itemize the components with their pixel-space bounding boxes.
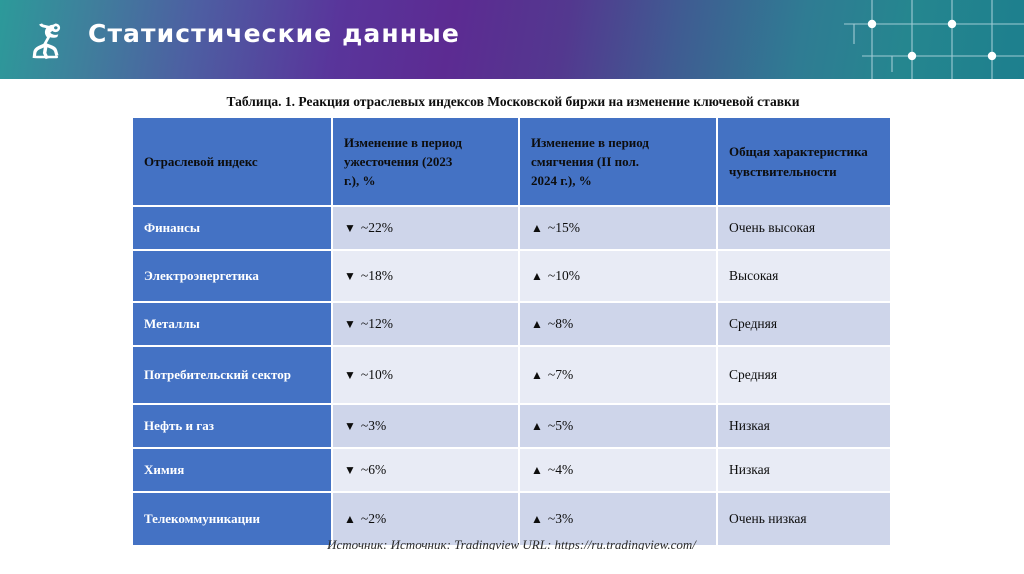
column-header-sensitivity: Общая характеристика чувствительности <box>718 118 890 207</box>
trend-up-icon: ▲ <box>531 317 543 331</box>
column-header-easing-change: Изменение в период смягчения (II пол. 20… <box>520 118 718 207</box>
header-line: г.), % <box>344 171 507 190</box>
trend-down-icon: ▼ <box>344 419 356 433</box>
column-header-sector-index: Отраслевой индекс <box>133 118 333 207</box>
trend-down-icon: ▼ <box>344 269 356 283</box>
cell-tightening-change: ▼~3% <box>333 405 520 449</box>
table-row: Финансы ▼~22% ▲~15% Очень высокая <box>133 207 890 251</box>
value-text: ~2% <box>361 511 386 526</box>
cell-easing-change: ▲~4% <box>520 449 718 493</box>
cell-sensitivity: Средняя <box>718 303 890 347</box>
cell-sector-index: Нефть и газ <box>133 405 333 449</box>
cell-tightening-change: ▼~10% <box>333 347 520 405</box>
cell-tightening-change: ▼~6% <box>333 449 520 493</box>
value-text: ~5% <box>548 418 573 433</box>
griffin-emblem-icon <box>22 13 76 67</box>
value-text: ~12% <box>361 316 393 331</box>
table-row: Нефть и газ ▼~3% ▲~5% Низкая <box>133 405 890 449</box>
column-header-tightening-change: Изменение в период ужесточения (2023 г.)… <box>333 118 520 207</box>
value-text: ~15% <box>548 220 580 235</box>
slide-header-banner: Статистические данные <box>0 0 1024 79</box>
cell-easing-change: ▲~15% <box>520 207 718 251</box>
table-row: Потребительский сектор ▼~10% ▲~7% Средня… <box>133 347 890 405</box>
table-body: Финансы ▼~22% ▲~15% Очень высокая Электр… <box>133 207 890 547</box>
trend-up-icon: ▲ <box>531 368 543 382</box>
cell-sector-index: Металлы <box>133 303 333 347</box>
table-header-row: Отраслевой индекс Изменение в период уже… <box>133 118 890 207</box>
cell-tightening-change: ▼~22% <box>333 207 520 251</box>
cell-sensitivity: Высокая <box>718 251 890 303</box>
cell-sensitivity: Средняя <box>718 347 890 405</box>
trend-up-icon: ▲ <box>344 512 356 526</box>
trend-down-icon: ▼ <box>344 463 356 477</box>
value-text: ~6% <box>361 462 386 477</box>
cell-sector-index: Электроэнергетика <box>133 251 333 303</box>
header-line: Общая <box>729 144 770 159</box>
trend-up-icon: ▲ <box>531 419 543 433</box>
trend-up-icon: ▲ <box>531 269 543 283</box>
value-text: ~22% <box>361 220 393 235</box>
value-text: ~3% <box>361 418 386 433</box>
cell-sensitivity: Низкая <box>718 449 890 493</box>
header-line: Изменение в период <box>344 133 507 152</box>
source-note: Источник: Источник: Tradingview URL: htt… <box>133 537 890 550</box>
cell-sensitivity: Низкая <box>718 405 890 449</box>
value-text: ~8% <box>548 316 573 331</box>
header-line: чувствительности <box>729 164 837 179</box>
table-row: Химия ▼~6% ▲~4% Низкая <box>133 449 890 493</box>
trend-up-icon: ▲ <box>531 512 543 526</box>
cell-sector-index: Потребительский сектор <box>133 347 333 405</box>
trend-up-icon: ▲ <box>531 463 543 477</box>
trend-down-icon: ▼ <box>344 317 356 331</box>
cell-easing-change: ▲~10% <box>520 251 718 303</box>
cell-tightening-change: ▼~12% <box>333 303 520 347</box>
trend-down-icon: ▼ <box>344 368 356 382</box>
header-line: 2024 г.), % <box>531 171 705 190</box>
table-row: Электроэнергетика ▼~18% ▲~10% Высокая <box>133 251 890 303</box>
slide-content-area: Таблица. 1. Реакция отраслевых индексов … <box>0 79 1024 574</box>
cell-sensitivity: Очень высокая <box>718 207 890 251</box>
header-line: смягчения (II пол. <box>531 152 705 171</box>
value-text: ~3% <box>548 511 573 526</box>
cell-tightening-change: ▼~18% <box>333 251 520 303</box>
header-line: ужесточения (2023 <box>344 152 507 171</box>
table-row: Металлы ▼~12% ▲~8% Средняя <box>133 303 890 347</box>
decorative-grid-dots <box>824 0 1024 79</box>
value-text: ~10% <box>361 367 393 382</box>
value-text: ~10% <box>548 268 580 283</box>
cell-sector-index: Финансы <box>133 207 333 251</box>
header-line: характеристика <box>773 144 867 159</box>
sector-index-reaction-table: Отраслевой индекс Изменение в период уже… <box>133 118 890 547</box>
table-header: Отраслевой индекс Изменение в период уже… <box>133 118 890 207</box>
cell-easing-change: ▲~5% <box>520 405 718 449</box>
trend-down-icon: ▼ <box>344 221 356 235</box>
value-text: ~18% <box>361 268 393 283</box>
cell-easing-change: ▲~7% <box>520 347 718 405</box>
value-text: ~4% <box>548 462 573 477</box>
trend-up-icon: ▲ <box>531 221 543 235</box>
page-title: Статистические данные <box>88 19 460 48</box>
header-line: Изменение в период <box>531 133 705 152</box>
value-text: ~7% <box>548 367 573 382</box>
table-caption: Таблица. 1. Реакция отраслевых индексов … <box>133 93 893 111</box>
cell-easing-change: ▲~8% <box>520 303 718 347</box>
cell-sector-index: Химия <box>133 449 333 493</box>
